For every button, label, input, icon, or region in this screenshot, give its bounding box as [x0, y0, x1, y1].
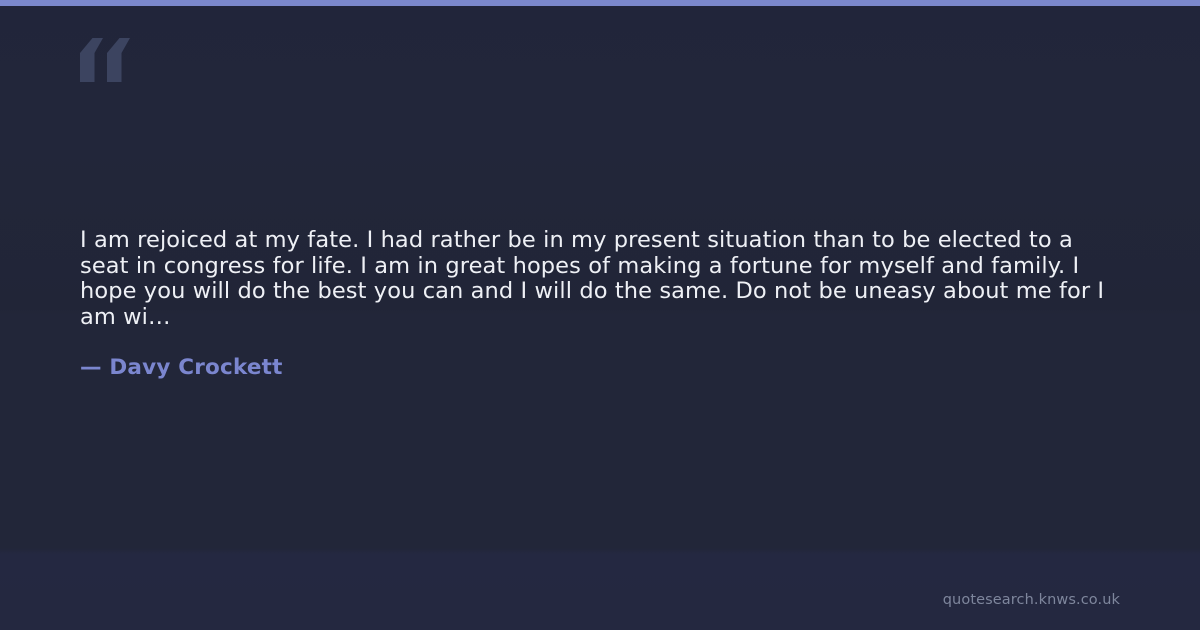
source-url: quotesearch.knws.co.uk — [943, 590, 1120, 610]
quote-card: I am rejoiced at my fate. I had rather b… — [0, 0, 1200, 630]
quote-author: — Davy Crockett — [80, 354, 283, 382]
top-accent-bar — [0, 0, 1200, 6]
quote-text: I am rejoiced at my fate. I had rather b… — [80, 228, 1126, 330]
open-quote-icon — [80, 38, 134, 82]
